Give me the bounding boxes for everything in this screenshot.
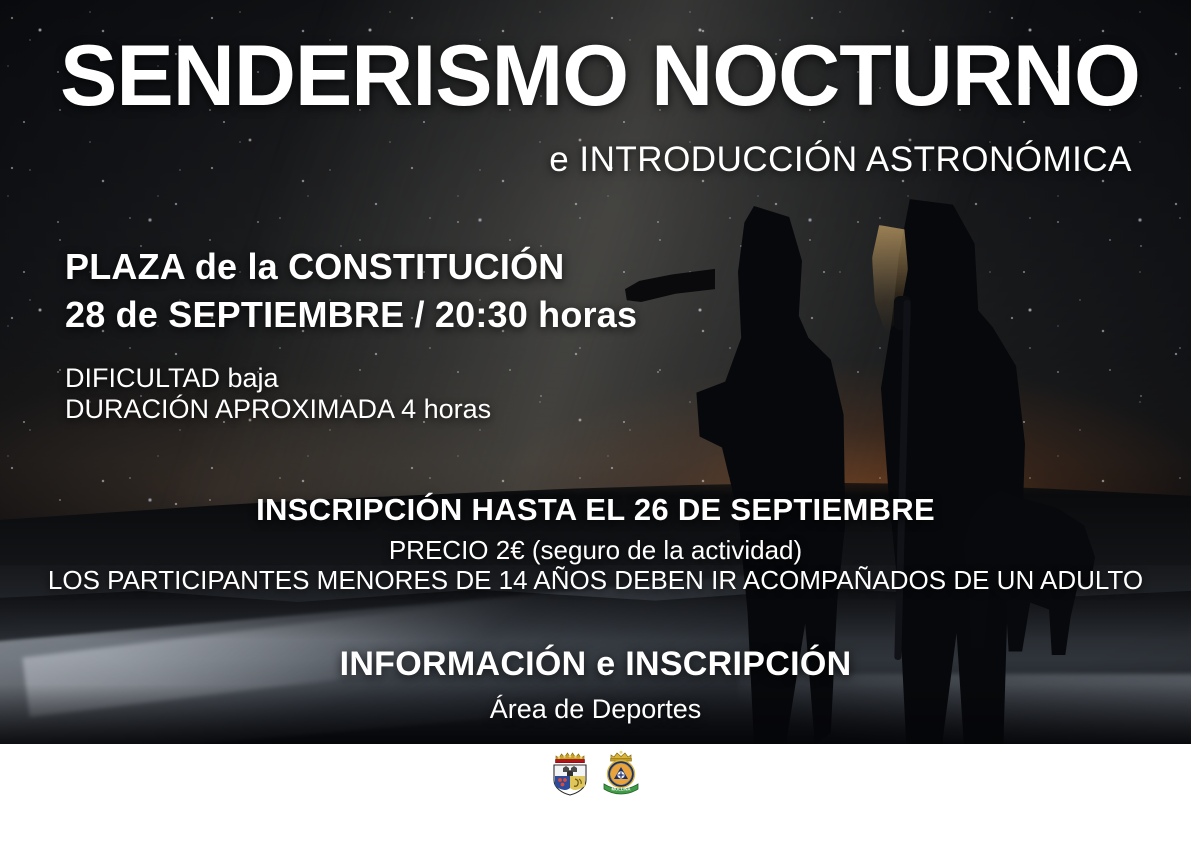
page-subtitle: e INTRODUCCIÓN ASTRONÓMICA [549,140,1132,180]
footer: MOLLINA AYUNTAMIENTO de MOLLINA [0,744,1191,842]
registration-price: PRECIO 2€ (seguro de la actividad) [389,535,802,566]
event-duration: DURACIÓN APROXIMADA 4 horas [65,394,491,425]
footer-logos: MOLLINA [548,748,644,796]
minors-notice: LOS PARTICIPANTES MENORES DE 14 AÑOS DEB… [48,565,1143,596]
poster: SENDERISMO NOCTURNO e INTRODUCCIÓN ASTRO… [0,0,1191,842]
proteccion-civil-banner-label: MOLLINA [611,787,630,792]
info-department: Área de Deportes [490,694,702,725]
event-difficulty: DIFICULTAD baja [65,363,279,394]
page-title: SENDERISMO NOCTURNO [60,33,1140,119]
mollina-coat-of-arms-icon [548,748,592,796]
event-place: PLAZA de la CONSTITUCIÓN [65,246,564,288]
registration-deadline: INSCRIPCIÓN HASTA EL 26 DE SEPTIEMBRE [256,492,935,528]
event-datetime: 28 de SEPTIEMBRE / 20:30 horas [65,294,637,336]
info-heading: INFORMACIÓN e INSCRIPCIÓN [340,645,852,684]
night-sky-photo: SENDERISMO NOCTURNO e INTRODUCCIÓN ASTRO… [0,0,1191,744]
proteccion-civil-emblem-icon: MOLLINA [598,748,644,796]
